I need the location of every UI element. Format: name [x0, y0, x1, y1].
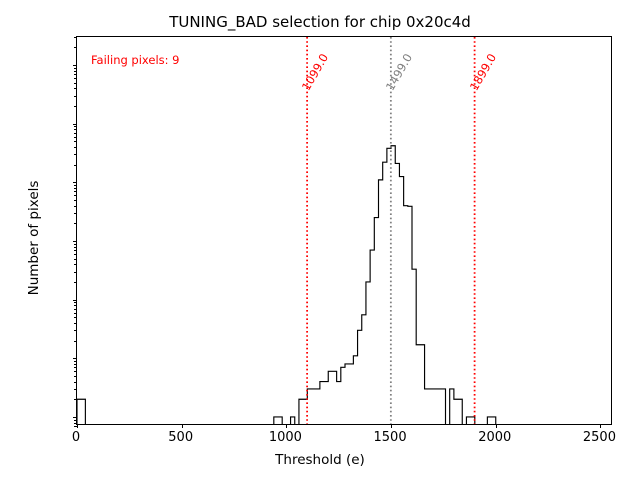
failing-pixels-annotation: Failing pixels: 9 [91, 53, 180, 67]
x-tick-label-2500: 2500 [583, 430, 616, 445]
y-minor-tick [74, 254, 77, 255]
y-minor-tick [74, 420, 77, 421]
y-minor-tick [74, 185, 77, 186]
y-minor-tick [74, 250, 77, 251]
y-minor-tick [74, 364, 77, 365]
y-minor-tick [74, 83, 77, 84]
x-tick-1000 [286, 424, 287, 428]
y-minor-tick [74, 323, 77, 324]
y-minor-tick [74, 126, 77, 127]
y-minor-tick [74, 78, 77, 79]
y-minor-tick [74, 309, 77, 310]
y-minor-tick [74, 272, 77, 273]
y-minor-tick [74, 389, 77, 390]
chart-title: TUNING_BAD selection for chip 0x20c4d [0, 13, 640, 31]
y-tick-100000 [73, 124, 78, 125]
y-tick-100 [73, 300, 78, 301]
y-minor-tick [74, 165, 77, 166]
y-minor-tick [74, 133, 77, 134]
y-minor-tick [74, 399, 77, 400]
x-tick-500 [182, 424, 183, 428]
y-minor-tick [74, 341, 77, 342]
x-tick-label-1000: 1000 [269, 430, 302, 445]
y-minor-tick [74, 313, 77, 314]
x-tick-2000 [496, 424, 497, 428]
y-minor-tick [74, 423, 77, 424]
x-axis-label: Threshold (e) [0, 452, 640, 468]
y-minor-tick [74, 382, 77, 383]
y-minor-tick [74, 367, 77, 368]
y-minor-tick [74, 106, 77, 107]
y-minor-tick [74, 154, 77, 155]
y-minor-tick [74, 188, 77, 189]
y-minor-tick [74, 200, 77, 201]
x-tick-label-0: 0 [72, 430, 80, 445]
y-minor-tick [74, 68, 77, 69]
y-minor-tick [74, 302, 77, 303]
y-minor-tick [74, 206, 77, 207]
y-minor-tick [74, 264, 77, 265]
x-tick-label-2000: 2000 [478, 430, 511, 445]
x-tick-2500 [600, 424, 601, 428]
y-minor-tick [74, 376, 77, 377]
y-tick-1 [73, 417, 78, 418]
y-minor-tick [74, 259, 77, 260]
y-minor-tick [74, 330, 77, 331]
y-minor-tick [74, 247, 77, 248]
y-minor-tick [74, 141, 77, 142]
plot-area [77, 37, 611, 424]
y-tick-1000 [73, 241, 78, 242]
figure-canvas: TUNING_BAD selection for chip 0x20c4d Fa… [0, 0, 640, 480]
y-minor-tick [74, 244, 77, 245]
y-tick-1000000 [73, 65, 78, 66]
plot-axes: Failing pixels: 9 1099.01499.01899.0 [76, 36, 612, 425]
y-tick-10 [73, 358, 78, 359]
y-minor-tick [74, 74, 77, 75]
x-tick-0 [77, 424, 78, 428]
y-minor-tick [74, 47, 77, 48]
y-minor-tick [74, 371, 77, 372]
y-minor-tick [74, 305, 77, 306]
y-minor-tick [74, 361, 77, 362]
x-tick-label-500: 500 [168, 430, 193, 445]
y-minor-tick [74, 213, 77, 214]
y-minor-tick [74, 96, 77, 97]
y-minor-tick [74, 88, 77, 89]
y-minor-tick [74, 282, 77, 283]
y-minor-tick [74, 223, 77, 224]
y-axis-label: Number of pixels [26, 108, 42, 368]
y-tick-10000 [73, 182, 78, 183]
y-minor-tick [74, 191, 77, 192]
y-minor-tick [74, 317, 77, 318]
y-minor-tick [74, 426, 77, 427]
reference-lines [77, 37, 611, 424]
y-minor-tick [74, 129, 77, 130]
y-minor-tick [74, 195, 77, 196]
x-tick-label-1500: 1500 [374, 430, 407, 445]
y-minor-tick [74, 137, 77, 138]
x-tick-1500 [391, 424, 392, 428]
y-minor-tick [74, 37, 77, 38]
y-minor-tick [74, 147, 77, 148]
y-minor-tick [74, 71, 77, 72]
